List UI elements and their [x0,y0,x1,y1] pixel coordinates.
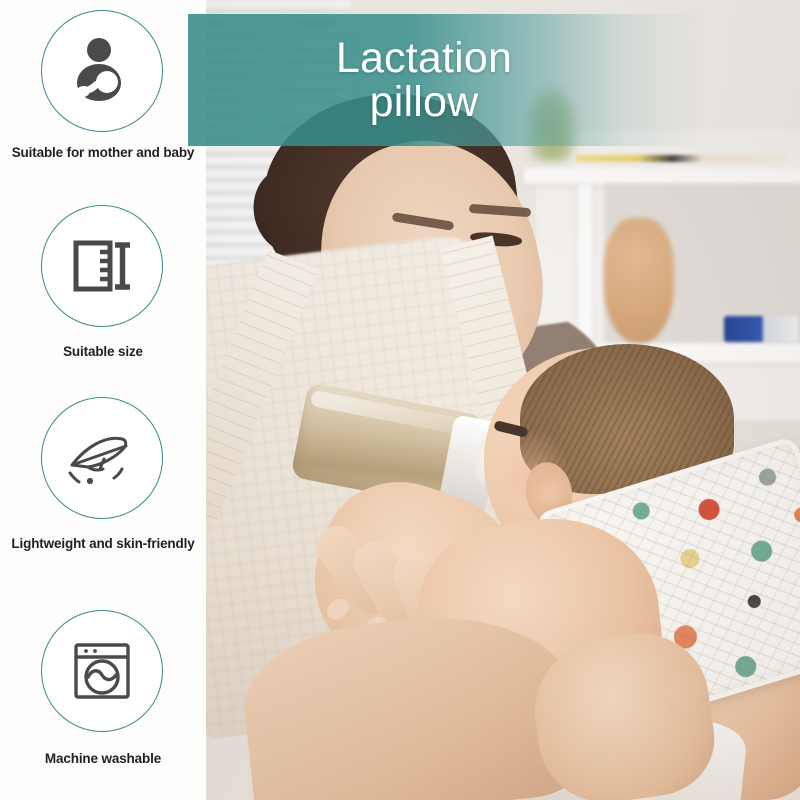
feature-label: Lightweight and skin-friendly [0,536,206,551]
baby-cheek [496,430,568,514]
feature-icon-circle [41,397,163,519]
feature-icon-circle [41,610,163,732]
ruler-icon [69,233,135,299]
toy-truck [724,316,798,342]
feature-icon-circle [41,10,163,132]
title-banner: Lactation pillow [188,14,708,146]
washing-machine-icon [68,637,136,705]
breastfeeding-icon [67,36,137,106]
product-feature-banner: Lactation pillow Suitable for mother and… [0,0,800,800]
pencils-on-shelf [576,155,786,162]
feature-rail: Suitable for mother and baby Suitable si… [0,0,206,800]
page-title: Lactation pillow [188,36,578,125]
teddy-bear-toy [604,218,674,343]
shelf-board-top [524,168,800,184]
page-title-line-2: pillow [270,80,578,124]
feature-label: Suitable for mother and baby [0,145,206,160]
feature-icon-circle [41,205,163,327]
feather-icon [64,425,140,491]
shelf-divider [578,184,592,346]
page-title-line-1: Lactation [270,36,578,80]
feature-label: Machine washable [0,751,206,766]
feature-label: Suitable size [0,344,206,359]
